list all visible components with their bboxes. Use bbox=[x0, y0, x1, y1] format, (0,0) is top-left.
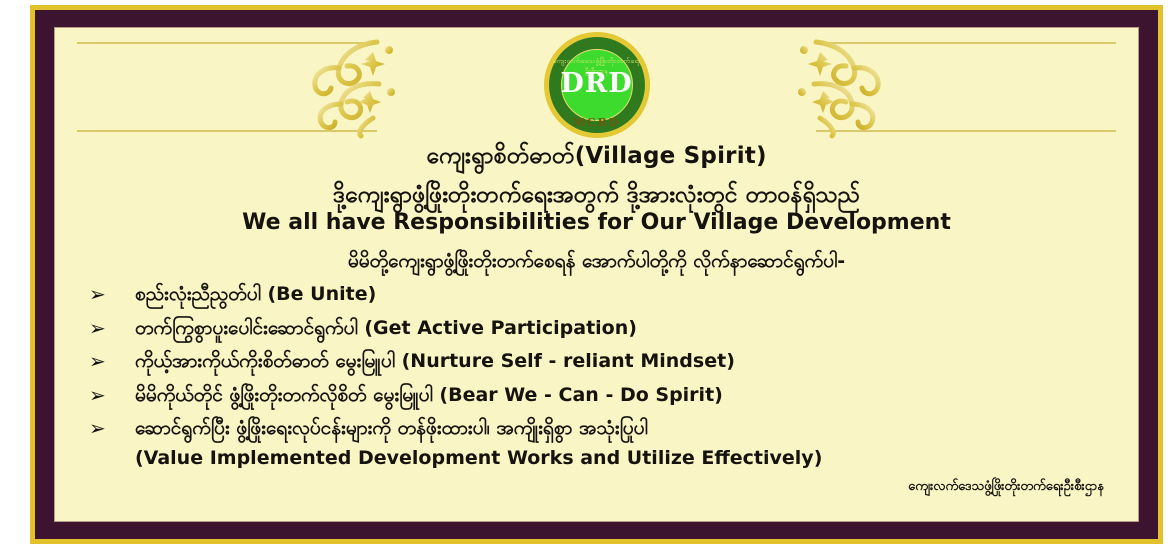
header-rule-left-top bbox=[77, 42, 377, 44]
bullet-continuation-english: (Value Implemented Development Works and… bbox=[71, 446, 1122, 470]
drd-department-seal-logo: ကျေးလက်ဒေသဖွံ့ဖြိုးတိုးတက်ရေးဦးစီးဌာန DR… bbox=[544, 32, 650, 138]
poster-footer-department: ကျေးလက်ဒေသဖွံ့ဖြိုးတိုးတက်ရေးဦးစီးဌာန bbox=[71, 478, 1122, 497]
list-item: ➢ ဆောင်ရွက်ပြီး ဖွံ့ဖြိုးရေးလုပ်ငန်းများ… bbox=[71, 416, 1122, 442]
list-item: ➢ တက်ကြွစွာပူးပေါင်းဆောင်ရွက်ပါ (Get Act… bbox=[71, 316, 1122, 342]
header-rule-right-bottom bbox=[816, 130, 1116, 132]
list-item-label: တက်ကြွစွာပူးပေါင်းဆောင်ရွက်ပါ (Get Activ… bbox=[135, 316, 1122, 340]
poster-paper: ကျေးလက်ဒေသဖွံ့ဖြိုးတိုးတက်ရေးဦးစီးဌာန DR… bbox=[54, 27, 1139, 522]
list-item: ➢ စည်းလုံးညီညွတ်ပါ (Be Unite) bbox=[71, 282, 1122, 308]
list-item-label: စည်းလုံးညီညွတ်ပါ (Be Unite) bbox=[135, 282, 1122, 306]
poster-bullet-list: ➢ စည်းလုံးညီညွတ်ပါ (Be Unite) ➢ တက်ကြွစွ… bbox=[71, 282, 1122, 442]
arrow-bullet-icon: ➢ bbox=[89, 316, 135, 342]
poster-root: ကျေးလက်ဒေသဖွံ့ဖြိုးတိုးတက်ရေးဦးစီးဌာန DR… bbox=[0, 0, 1170, 550]
list-item: ➢ မိမိကိုယ်တိုင် ဖွံ့ဖြိုးတိုးတက်လိုစိတ်… bbox=[71, 383, 1122, 409]
poster-maroon-border: ကျေးလက်ဒေသဖွံ့ဖြိုးတိုးတက်ရေးဦးစီးဌာန DR… bbox=[35, 10, 1158, 539]
poster-intro-line: မိမိတို့ကျေးရွာဖွံ့ဖြိုးတိုးတက်စေရန် အော… bbox=[71, 250, 1122, 274]
list-item-label: ဆောင်ရွက်ပြီး ဖွံ့ဖြိုးရေးလုပ်ငန်းများကိ… bbox=[135, 416, 1122, 440]
filigree-ornament-right-icon bbox=[774, 32, 894, 140]
seal-arc-bottom-text: MCRD bbox=[544, 116, 650, 129]
poster-title: ကျေးရွာစိတ်ဓာတ်(Village Spirit) bbox=[71, 142, 1122, 171]
filigree-ornament-left-icon bbox=[299, 32, 419, 140]
header-rule-left-bottom bbox=[77, 130, 377, 132]
seal-center-text: DRD bbox=[544, 70, 650, 97]
poster-subtitle-myanmar: ဒို့ကျေးရွာဖွံ့ဖြိုးတိုးတက်ရေးအတွက် ဒို့… bbox=[71, 181, 1122, 209]
arrow-bullet-icon: ➢ bbox=[89, 349, 135, 375]
list-item-label: မိမိကိုယ်တိုင် ဖွံ့ဖြိုးတိုးတက်လိုစိတ် မ… bbox=[135, 383, 1122, 407]
poster-gold-border: ကျေးလက်ဒေသဖွံ့ဖြိုးတိုးတက်ရေးဦးစီးဌာန DR… bbox=[30, 5, 1163, 544]
header-rule-right-top bbox=[816, 42, 1116, 44]
poster-subtitle-english: We all have Responsibilities for Our Vil… bbox=[71, 210, 1122, 236]
list-item-label: ကိုယ့်အားကိုယ်ကိုးစိတ်ဓာတ် မွေးမြူပါ (Nu… bbox=[135, 349, 1122, 373]
arrow-bullet-icon: ➢ bbox=[89, 282, 135, 308]
list-item: ➢ ကိုယ့်အားကိုယ်ကိုးစိတ်ဓာတ် မွေးမြူပါ (… bbox=[71, 349, 1122, 375]
poster-content: ကျေးရွာစိတ်ဓာတ်(Village Spirit) ဒို့ကျေး… bbox=[55, 142, 1138, 497]
poster-header-band: ကျေးလက်ဒေသဖွံ့ဖြိုးတိုးတက်ရေးဦးစီးဌာန DR… bbox=[55, 28, 1138, 140]
arrow-bullet-icon: ➢ bbox=[89, 416, 135, 442]
arrow-bullet-icon: ➢ bbox=[89, 383, 135, 409]
